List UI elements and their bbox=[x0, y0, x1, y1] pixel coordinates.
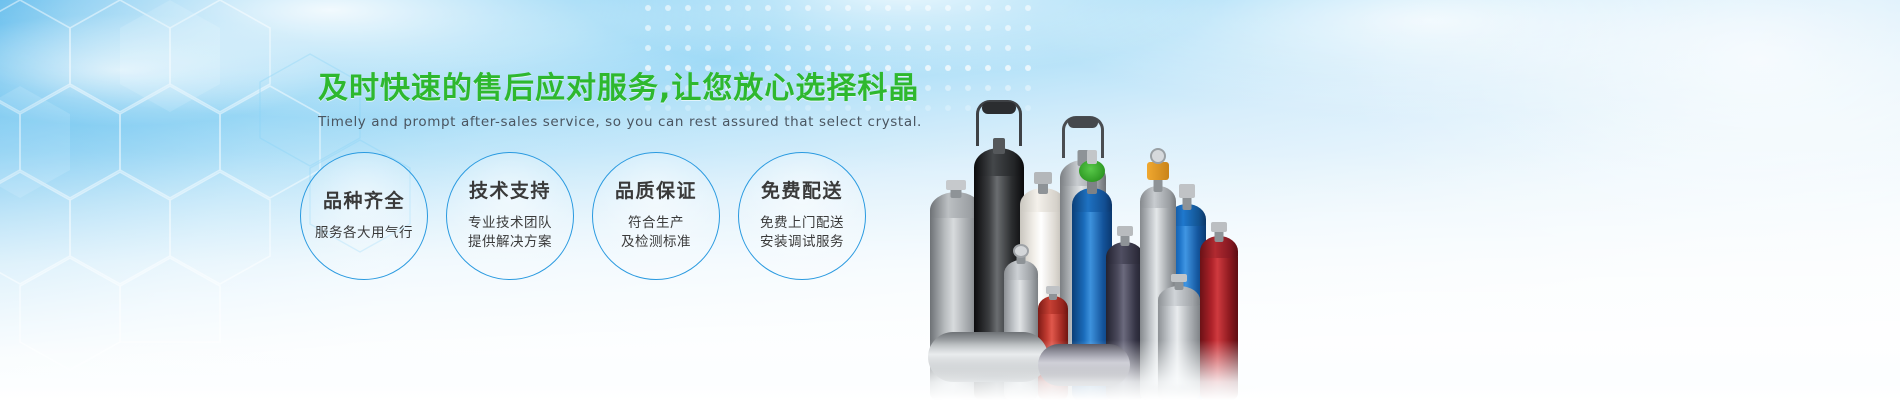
badge-lines: 免费上门配送 安装调试服务 bbox=[760, 214, 844, 252]
badge-lines: 专业技术团队 提供解决方案 bbox=[468, 214, 552, 252]
page-subtitle: Timely and prompt after-sales service, s… bbox=[318, 114, 898, 130]
badge-line: 免费上门配送 bbox=[760, 214, 844, 233]
badge-lines: 服务各大用气行 bbox=[315, 224, 413, 243]
badge-title: 技术支持 bbox=[469, 180, 551, 202]
badge-free-delivery[interactable]: 免费配送 免费上门配送 安装调试服务 bbox=[738, 152, 866, 280]
badge-line: 服务各大用气行 bbox=[315, 224, 413, 243]
headline-block: 及时快速的售后应对服务,让您放心选择科晶 Timely and prompt a… bbox=[318, 72, 898, 130]
badge-line: 提供解决方案 bbox=[468, 233, 552, 252]
badge-lines: 符合生产 及检测标准 bbox=[621, 214, 691, 252]
page-title: 及时快速的售后应对服务,让您放心选择科晶 bbox=[318, 72, 898, 106]
badge-title: 品种齐全 bbox=[323, 190, 405, 212]
badge-tech-support[interactable]: 技术支持 专业技术团队 提供解决方案 bbox=[446, 152, 574, 280]
gas-cylinder-group-image bbox=[900, 0, 1360, 400]
badge-line: 符合生产 bbox=[621, 214, 691, 233]
badge-line: 安装调试服务 bbox=[760, 233, 844, 252]
badge-line: 及检测标准 bbox=[621, 233, 691, 252]
promo-banner: 及时快速的售后应对服务,让您放心选择科晶 Timely and prompt a… bbox=[0, 0, 1900, 400]
feature-badge-group: 品种齐全 服务各大用气行 技术支持 专业技术团队 提供解决方案 品质保证 符合生… bbox=[300, 148, 900, 298]
badge-line: 专业技术团队 bbox=[468, 214, 552, 233]
badge-title: 品质保证 bbox=[615, 180, 697, 202]
badge-quality[interactable]: 品质保证 符合生产 及检测标准 bbox=[592, 152, 720, 280]
badge-variety[interactable]: 品种齐全 服务各大用气行 bbox=[300, 152, 428, 280]
group-base-shadow bbox=[900, 374, 1320, 400]
badge-title: 免费配送 bbox=[761, 180, 843, 202]
